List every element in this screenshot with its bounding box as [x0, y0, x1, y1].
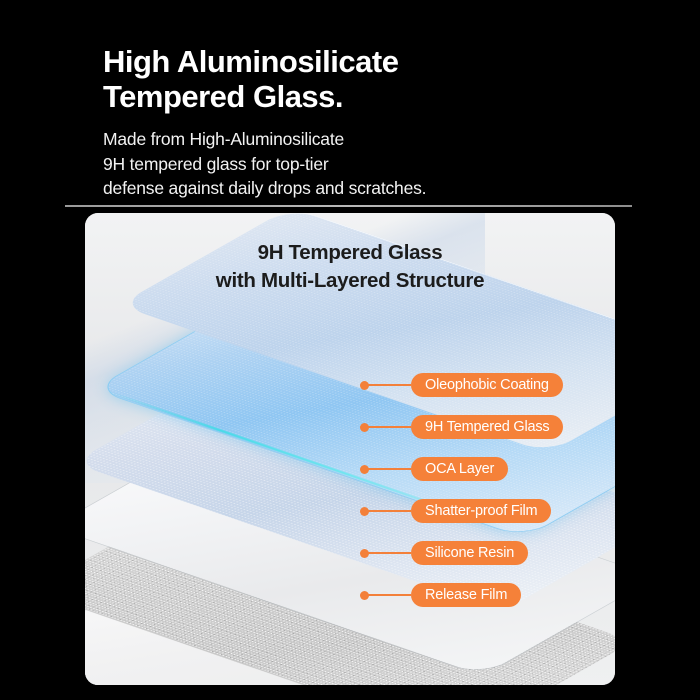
- layer-label-tempered-glass[interactable]: 9H Tempered Glass: [411, 415, 563, 439]
- callout-leader-line: [366, 468, 411, 470]
- infographic-root: High Aluminosilicate Tempered Glass. Mad…: [0, 0, 700, 700]
- layer-label-shatter-proof-film[interactable]: Shatter-proof Film: [411, 499, 551, 523]
- callout-leader-line: [366, 552, 411, 554]
- callout-leader-line: [366, 384, 411, 386]
- callout-leader-line: [366, 594, 411, 596]
- callout-leader-line: [366, 426, 411, 428]
- callout-group: Oleophobic Coating 9H Tempered Glass OCA…: [0, 0, 700, 700]
- layer-label-release-film[interactable]: Release Film: [411, 583, 521, 607]
- layer-label-oca-layer[interactable]: OCA Layer: [411, 457, 508, 481]
- layer-label-oleophobic-coating[interactable]: Oleophobic Coating: [411, 373, 563, 397]
- layer-label-silicone-resin[interactable]: Silicone Resin: [411, 541, 528, 565]
- callout-leader-line: [366, 510, 411, 512]
